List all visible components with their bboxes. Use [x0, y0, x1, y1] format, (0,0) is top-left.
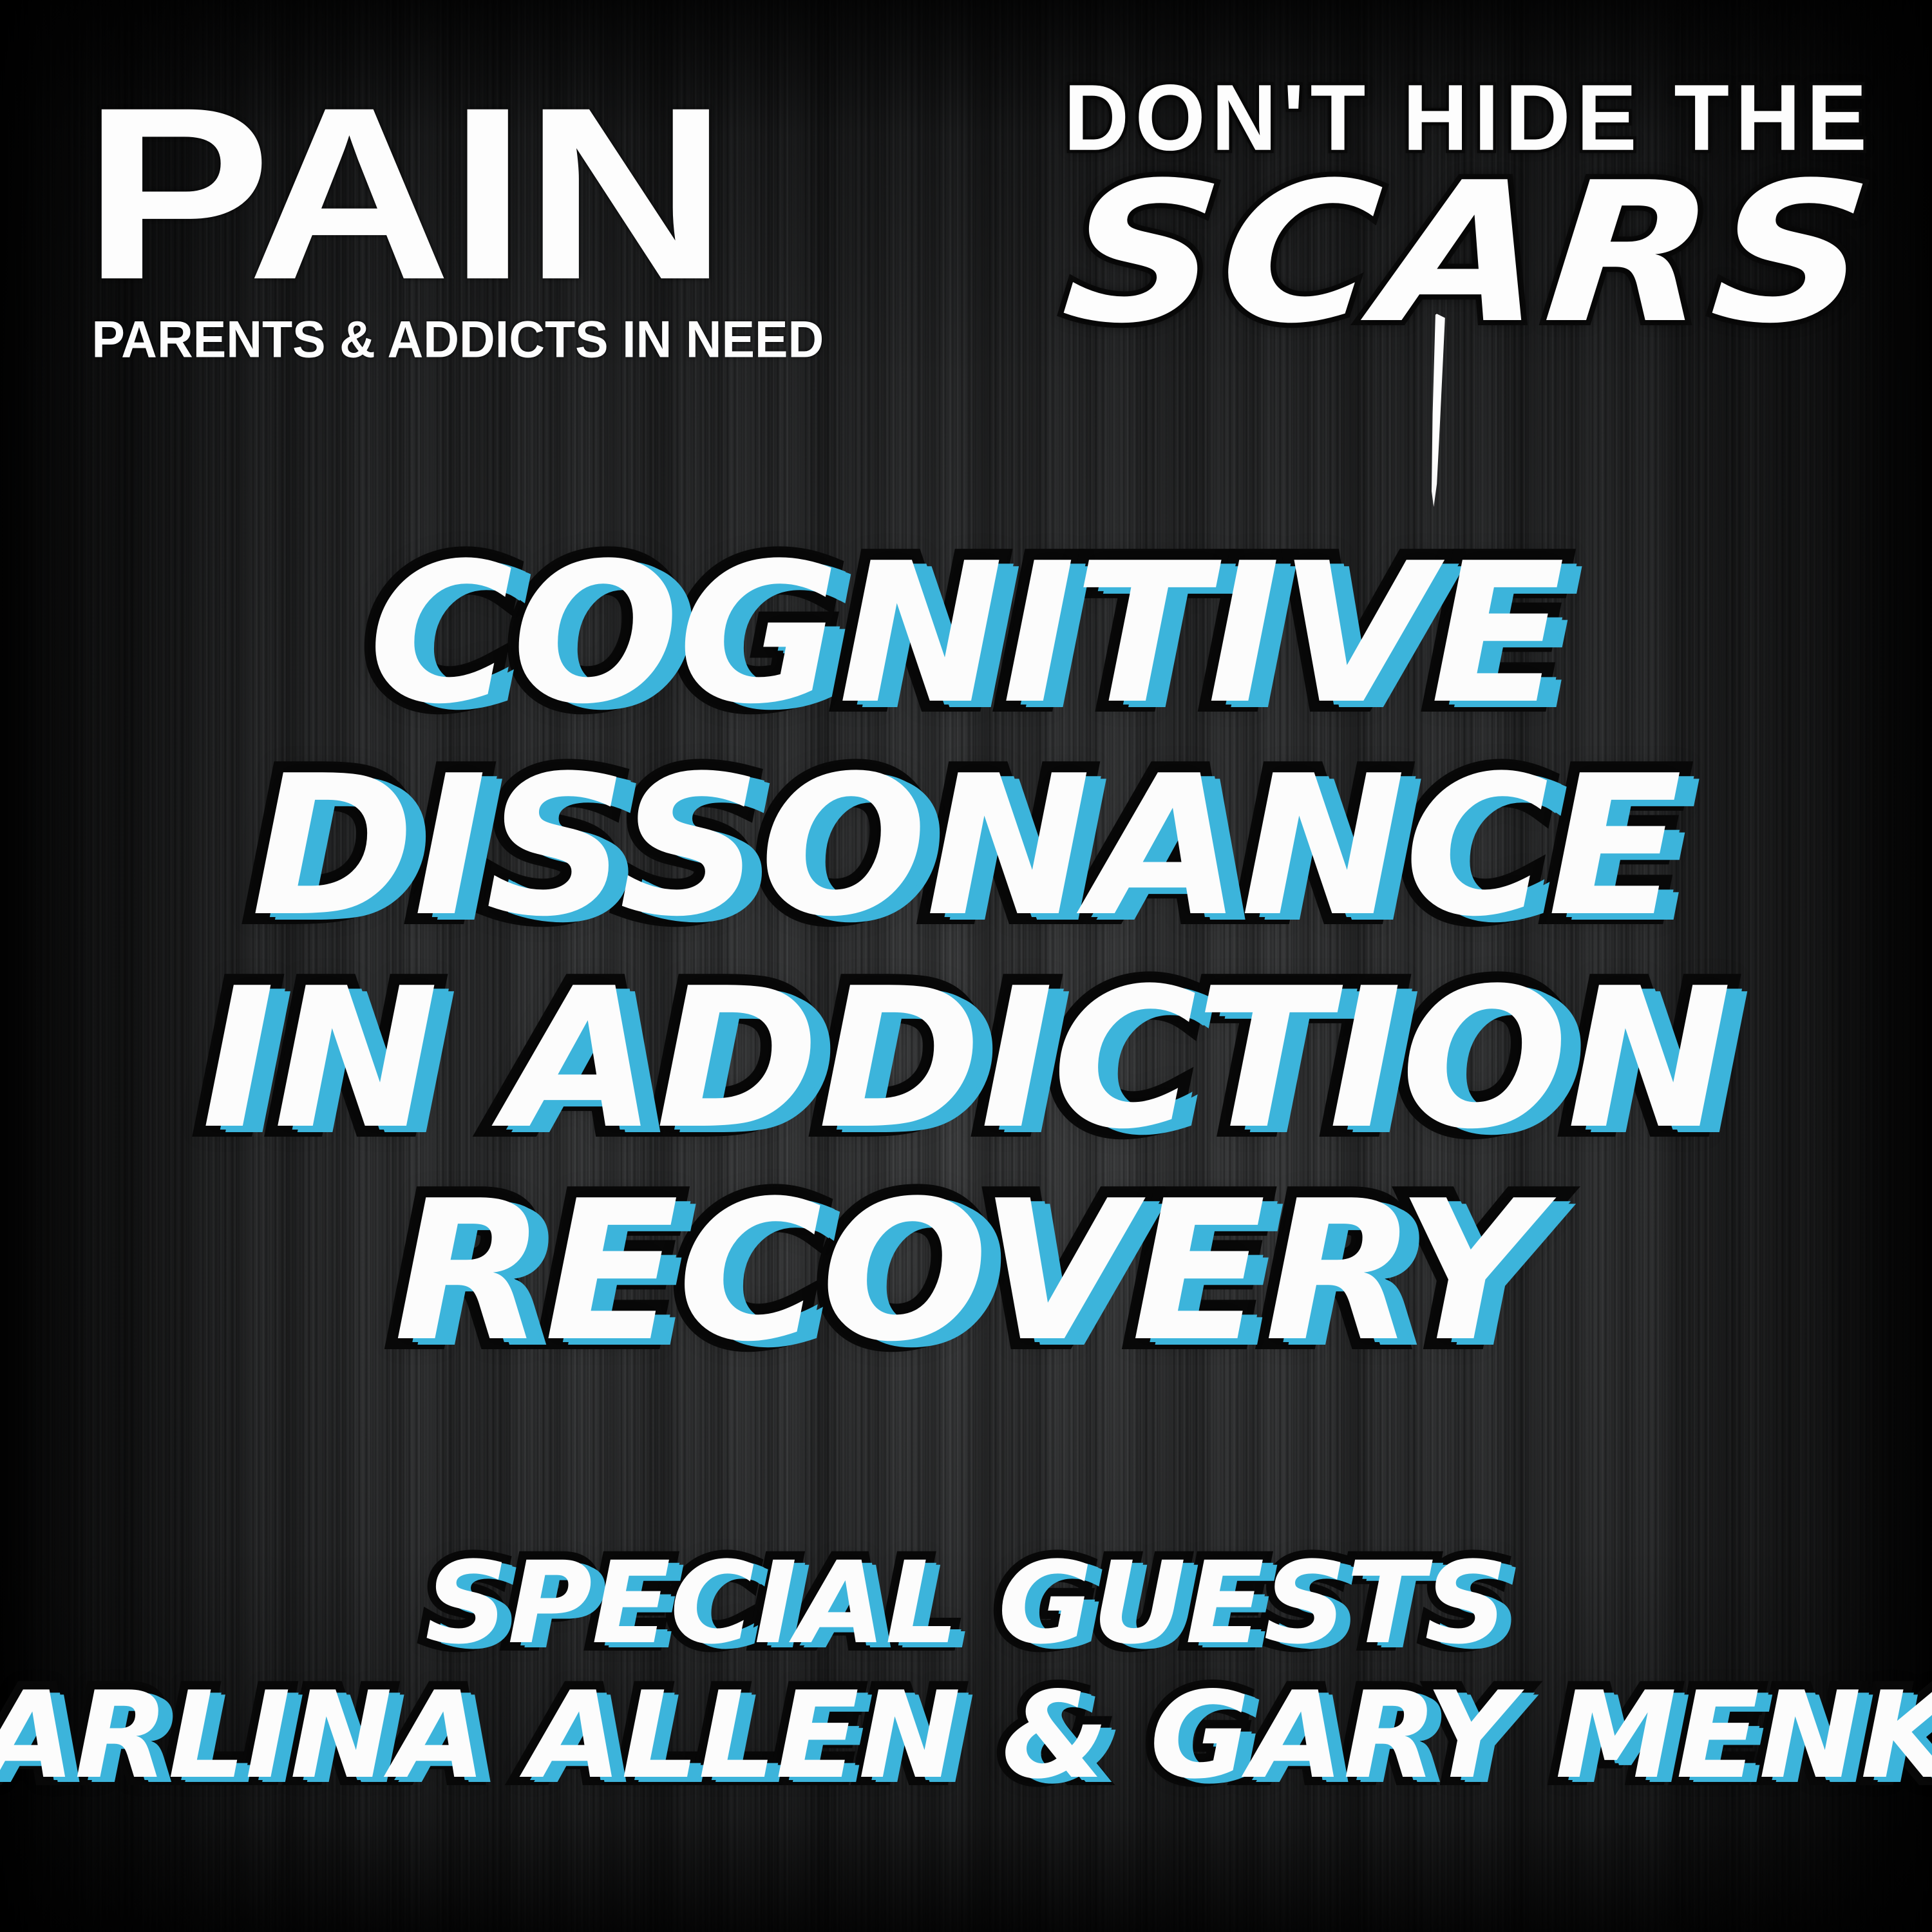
dont-hide-the-scars-logo: DON'T HIDE THE SCARS — [1043, 74, 1893, 350]
episode-title: COGNITIVE DISSONANCE IN ADDICTION RECOVE… — [0, 528, 1932, 1378]
special-guests-label: SPECIAL GUESTS — [0, 1539, 1932, 1668]
episode-title-line-3: IN ADDICTION — [0, 953, 1932, 1166]
episode-title-line-2: DISSONANCE — [0, 741, 1932, 953]
pain-acronym: PAIN — [82, 71, 522, 317]
pain-expansion: PARENTS & ADDICTS IN NEED — [91, 313, 513, 365]
pain-brand-logo: PAIN PARENTS & ADDICTS IN NEED — [122, 71, 483, 355]
episode-title-line-4: RECOVERY — [0, 1166, 1932, 1378]
episode-title-line-1: COGNITIVE — [0, 528, 1932, 741]
show-logo-line2: SCARS — [992, 157, 1932, 350]
podcast-cover-art: PAIN PARENTS & ADDICTS IN NEED DON'T HID… — [0, 0, 1932, 1932]
special-guests-names: ARLINA ALLEN & GARY MENKES — [0, 1668, 1932, 1803]
special-guests-block: SPECIAL GUESTS ARLINA ALLEN & GARY MENKE… — [0, 1539, 1932, 1803]
